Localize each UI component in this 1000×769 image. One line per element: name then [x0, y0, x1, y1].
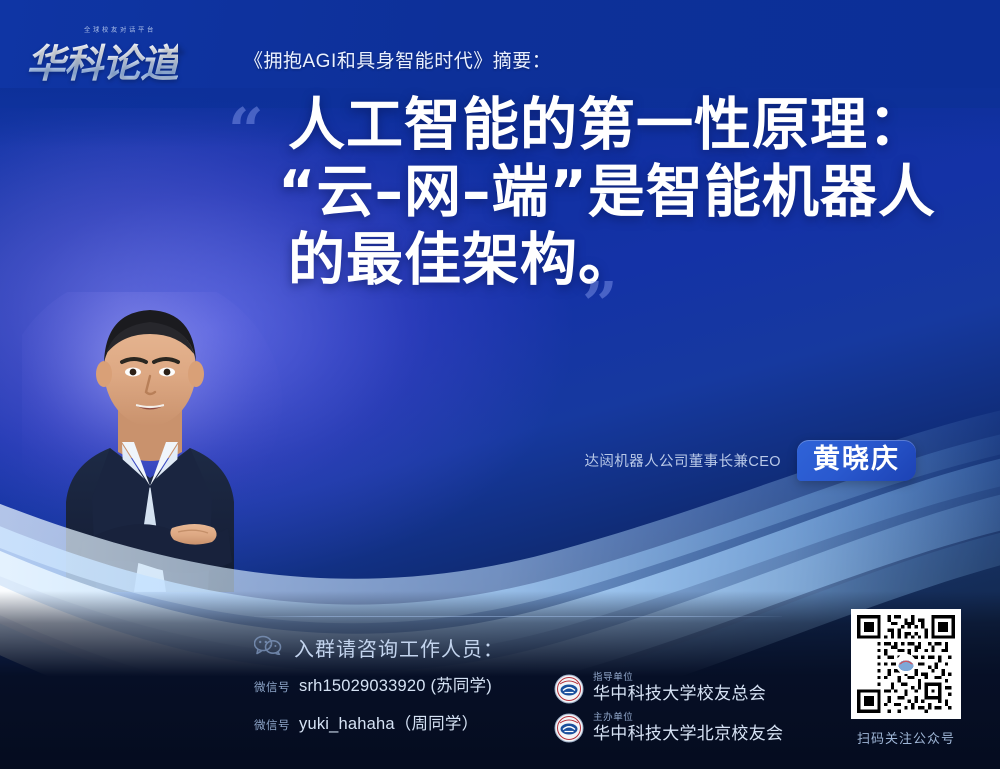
speaker-title: 达闼机器人公司董事长兼CEO — [584, 450, 781, 471]
contact-heading-row: 入群请咨询工作人员： — [254, 633, 814, 662]
speaker-attribution: 达闼机器人公司董事长兼CEO 黄晓庆 — [584, 440, 916, 481]
list-item: 微信号 yuki_hahaha（周同学） — [254, 710, 554, 734]
quote-close-mark: ” — [582, 274, 618, 336]
contact-heading: 入群请咨询工作人员： — [294, 633, 504, 662]
organization-name: 华中科技大学校友总会 — [593, 684, 766, 704]
quote-block: “ 人工智能的第一性原理： “云–网–端”是智能机器人 的最佳架构。 ” — [232, 92, 972, 294]
wechat-value[interactable]: yuki_hahaha（周同学） — [299, 710, 478, 734]
organizations-list: 指导单位 华中科技大学校友总会 — [554, 672, 814, 751]
list-item: 主办单位 华中科技大学北京校友会 — [554, 712, 814, 744]
brand-name: 华科论道 — [26, 33, 178, 89]
section-divider — [254, 616, 782, 617]
wechat-label: 微信号 — [254, 679, 290, 695]
organization-text: 指导单位 华中科技大学校友总会 — [593, 672, 766, 704]
qr-code-image[interactable] — [851, 609, 961, 719]
wechat-icon — [254, 635, 282, 660]
list-item: 指导单位 华中科技大学校友总会 — [554, 672, 814, 704]
qr-block: 扫码关注公众号 — [836, 609, 976, 747]
brand-logo[interactable]: 全球校友对话平台 华科论道 — [26, 23, 216, 85]
speaker-portrait — [22, 292, 284, 592]
organization-role: 指导单位 — [593, 672, 766, 684]
university-seal-icon — [554, 713, 584, 743]
speaker-name-badge: 黄晓庆 — [797, 440, 916, 481]
organization-text: 主办单位 华中科技大学北京校友会 — [593, 712, 783, 744]
poster-root: 全球校友对话平台 华科论道 《拥抱AGI和具身智能时代》摘要： “ 人工智能的第… — [0, 0, 1000, 769]
contact-section: 入群请咨询工作人员： 微信号 srh15029033920 (苏同学) 微信号 … — [254, 616, 814, 751]
quote-open-mark: “ — [228, 100, 264, 162]
organization-role: 主办单位 — [593, 712, 783, 724]
qr-caption: 扫码关注公众号 — [836, 728, 976, 747]
header: 全球校友对话平台 华科论道 《拥抱AGI和具身智能时代》摘要： — [0, 0, 1000, 108]
header-subtitle: 《拥抱AGI和具身智能时代》摘要： — [244, 46, 551, 73]
wechat-value[interactable]: srh15029033920 (苏同学) — [299, 672, 492, 696]
contact-body: 微信号 srh15029033920 (苏同学) 微信号 yuki_hahaha… — [254, 672, 814, 751]
organization-name: 华中科技大学北京校友会 — [593, 724, 783, 744]
quote-line-2: “云–网–端”是智能机器人 — [278, 159, 972, 226]
university-seal-icon — [554, 674, 584, 704]
wechat-accounts-list: 微信号 srh15029033920 (苏同学) 微信号 yuki_hahaha… — [254, 672, 554, 751]
wechat-label: 微信号 — [254, 717, 290, 733]
quote-line-3: 的最佳架构。 — [288, 227, 972, 294]
list-item: 微信号 srh15029033920 (苏同学) — [254, 672, 554, 696]
